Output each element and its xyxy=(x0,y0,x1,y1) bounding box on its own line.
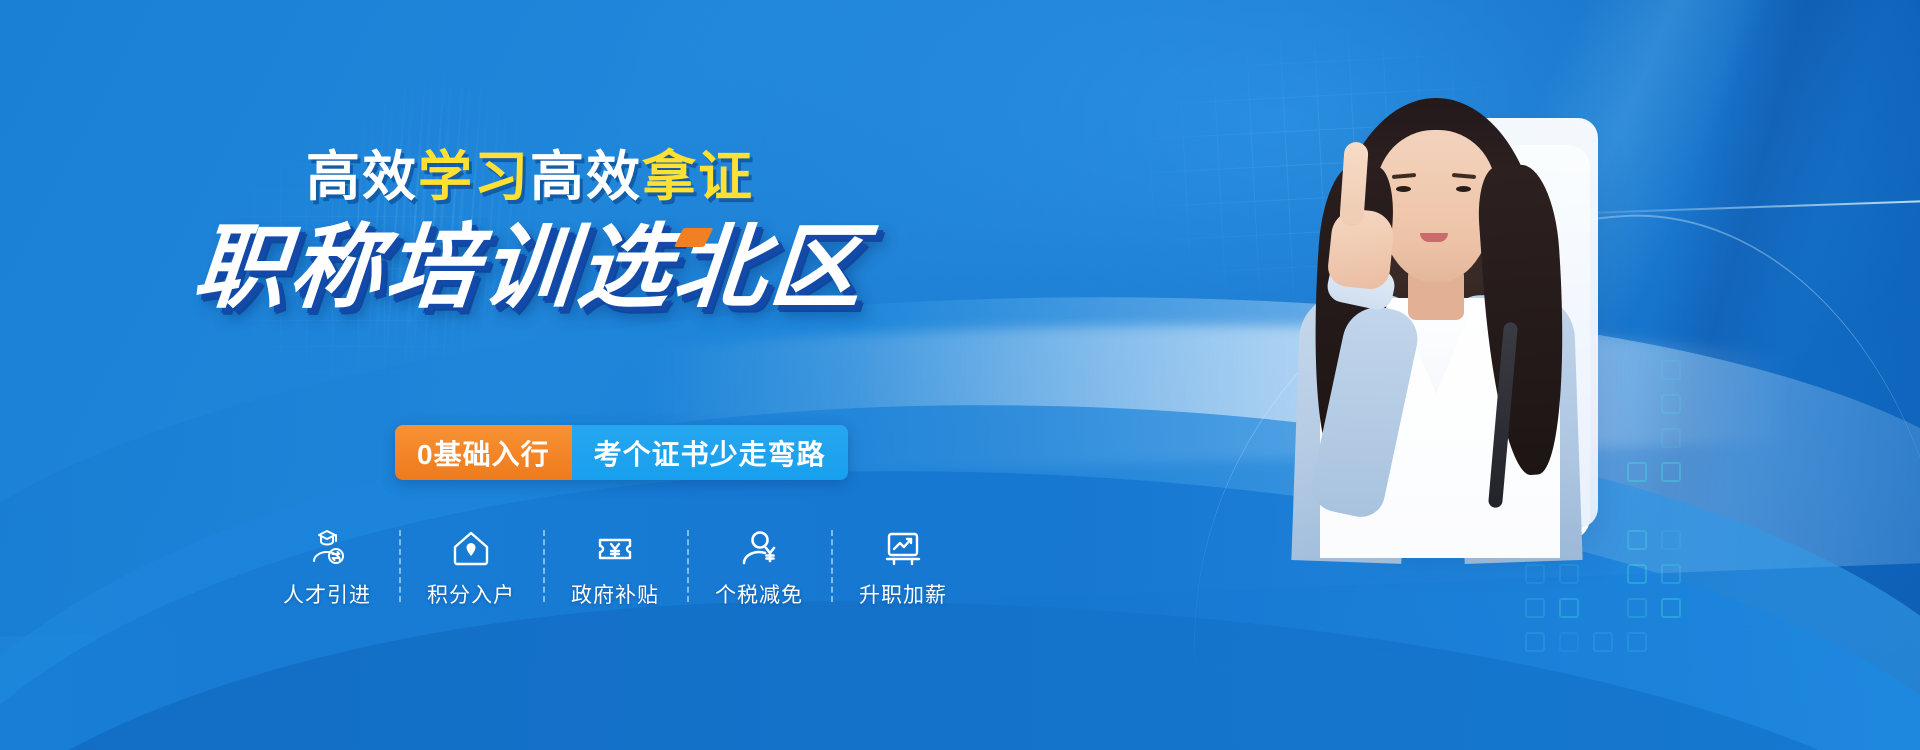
subhead-part-3: 高效 xyxy=(530,147,642,207)
feature-label: 个税减免 xyxy=(715,579,803,609)
hero-photo xyxy=(1180,0,1920,750)
tag-primary[interactable]: 0基础入行 xyxy=(395,425,572,480)
person-yuan-icon xyxy=(737,528,781,570)
subhead-part-4: 拿证 xyxy=(642,147,754,207)
ticket-yuan-icon xyxy=(593,528,637,570)
feature-item-talent[interactable]: 人才引进 xyxy=(255,528,399,609)
feature-item-promotion[interactable]: 升职加薪 xyxy=(831,528,975,609)
tag-secondary[interactable]: 考个证书少走弯路 xyxy=(572,425,848,480)
presenter-avatar xyxy=(1210,70,1640,550)
eye-right xyxy=(1456,186,1471,192)
banner-content: 高效学习高效拿证 职称培训选北区 0基础入行 考个证书少走弯路 xyxy=(0,0,1060,750)
feature-item-tax[interactable]: 个税减免 xyxy=(687,528,831,609)
feature-label: 积分入户 xyxy=(427,579,515,609)
feature-item-subsidy[interactable]: 政府补贴 xyxy=(543,528,687,609)
headline-text: 职称培训选北区 xyxy=(190,217,871,319)
promo-banner: 高效学习高效拿证 职称培训选北区 0基础入行 考个证书少走弯路 xyxy=(0,0,1920,750)
feature-label: 政府补贴 xyxy=(571,579,659,609)
chart-board-icon xyxy=(881,528,925,570)
subhead-part-1: 高效 xyxy=(306,147,418,207)
graduate-person-icon xyxy=(305,528,349,570)
feature-item-residency[interactable]: 积分入户 xyxy=(399,528,543,609)
feature-list: 人才引进 积分入户 政府补贴 xyxy=(255,528,975,609)
banner-subheadline: 高效学习高效拿证 xyxy=(0,150,1060,204)
eye-left xyxy=(1396,186,1411,192)
house-pin-icon xyxy=(449,528,493,570)
subhead-part-2: 学习 xyxy=(418,147,530,207)
feature-label: 升职加薪 xyxy=(859,579,947,609)
banner-headline: 职称培训选北区 xyxy=(0,222,1064,314)
tagline-bar: 0基础入行 考个证书少走弯路 xyxy=(395,425,848,480)
feature-label: 人才引进 xyxy=(283,579,371,609)
